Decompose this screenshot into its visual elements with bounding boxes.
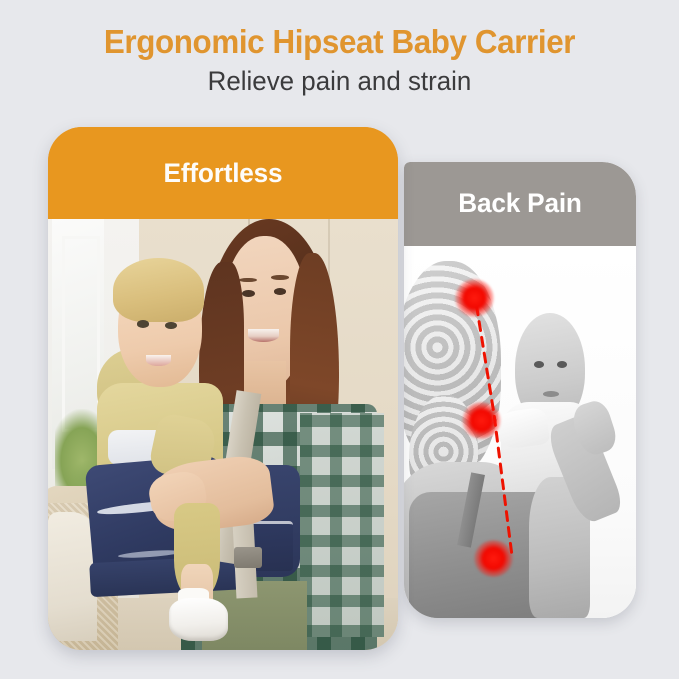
page-subtitle: Relieve pain and strain xyxy=(14,64,666,98)
baby-eye-right xyxy=(165,322,177,329)
baby-sneaker xyxy=(169,598,229,641)
product-infographic: Ergonomic Hipseat Baby Carrier Relieve p… xyxy=(0,0,679,679)
mother-eye-right xyxy=(274,288,287,295)
baby-smile xyxy=(146,355,171,366)
window-frame xyxy=(62,236,100,432)
pain-point-upper-icon xyxy=(455,279,494,316)
baby-hair xyxy=(113,258,204,323)
card-back-pain-photo xyxy=(404,246,636,618)
card-back-pain: Back Pain xyxy=(404,162,636,618)
back-pain-illustration xyxy=(404,246,636,618)
card-effortless-photo xyxy=(48,219,398,650)
mother-smile xyxy=(248,329,280,342)
pain-path-dashed-line xyxy=(404,246,636,618)
card-effortless: Effortless xyxy=(48,127,398,650)
mother-plaid-shirt-sleeve xyxy=(300,413,384,637)
pain-point-lower-icon xyxy=(474,540,513,577)
card-back-pain-label: Back Pain xyxy=(407,186,632,220)
mother-eye-left xyxy=(242,290,255,297)
page-title: Ergonomic Hipseat Baby Carrier xyxy=(17,22,662,62)
effortless-illustration xyxy=(48,219,398,650)
carrier-buckle xyxy=(234,547,262,569)
baby-eye-left xyxy=(137,320,149,327)
mother-brow-right xyxy=(271,275,289,280)
card-effortless-label: Effortless xyxy=(53,156,393,190)
